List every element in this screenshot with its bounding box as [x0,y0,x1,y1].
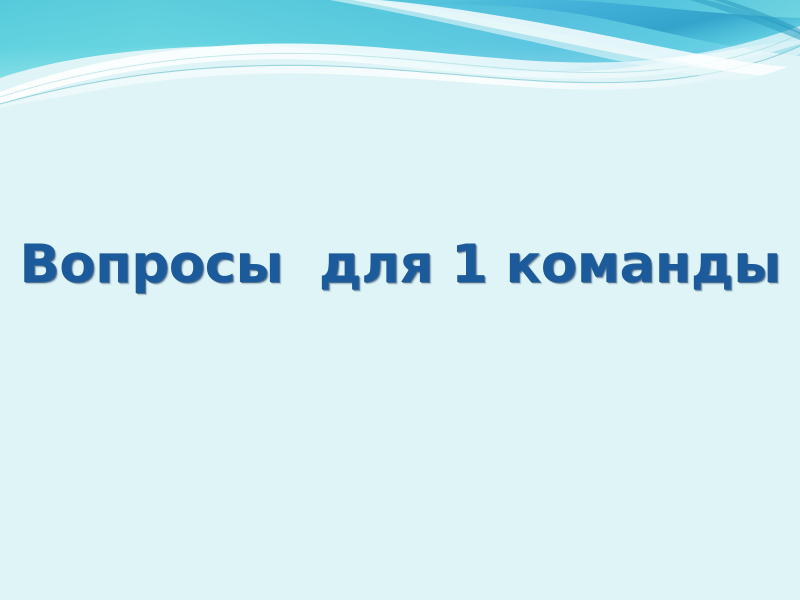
wave-deep-accent [400,0,800,56]
page-title: Вопросы для 1 команды [0,236,800,293]
wave-hairline-teal-2 [0,34,800,97]
wave-base-cyan [0,0,800,78]
slide-canvas: Вопросы для 1 команды [0,0,800,600]
wave-edge-right-2 [714,0,800,34]
wave-base-shade [0,0,800,78]
top-wave-band [0,0,800,120]
title-block: Вопросы для 1 команды [0,236,800,293]
wave-ribbon-upper-right [352,0,800,78]
wave-decoration-graphic [0,0,800,120]
wave-edge-right [690,0,800,40]
wave-ribbon-upper-right-2 [330,0,800,86]
wave-bottom-fade [0,62,800,120]
wave-ribbon-secondary [0,46,800,112]
wave-hairline-teal [0,46,800,104]
wave-ribbon-main [0,26,800,104]
